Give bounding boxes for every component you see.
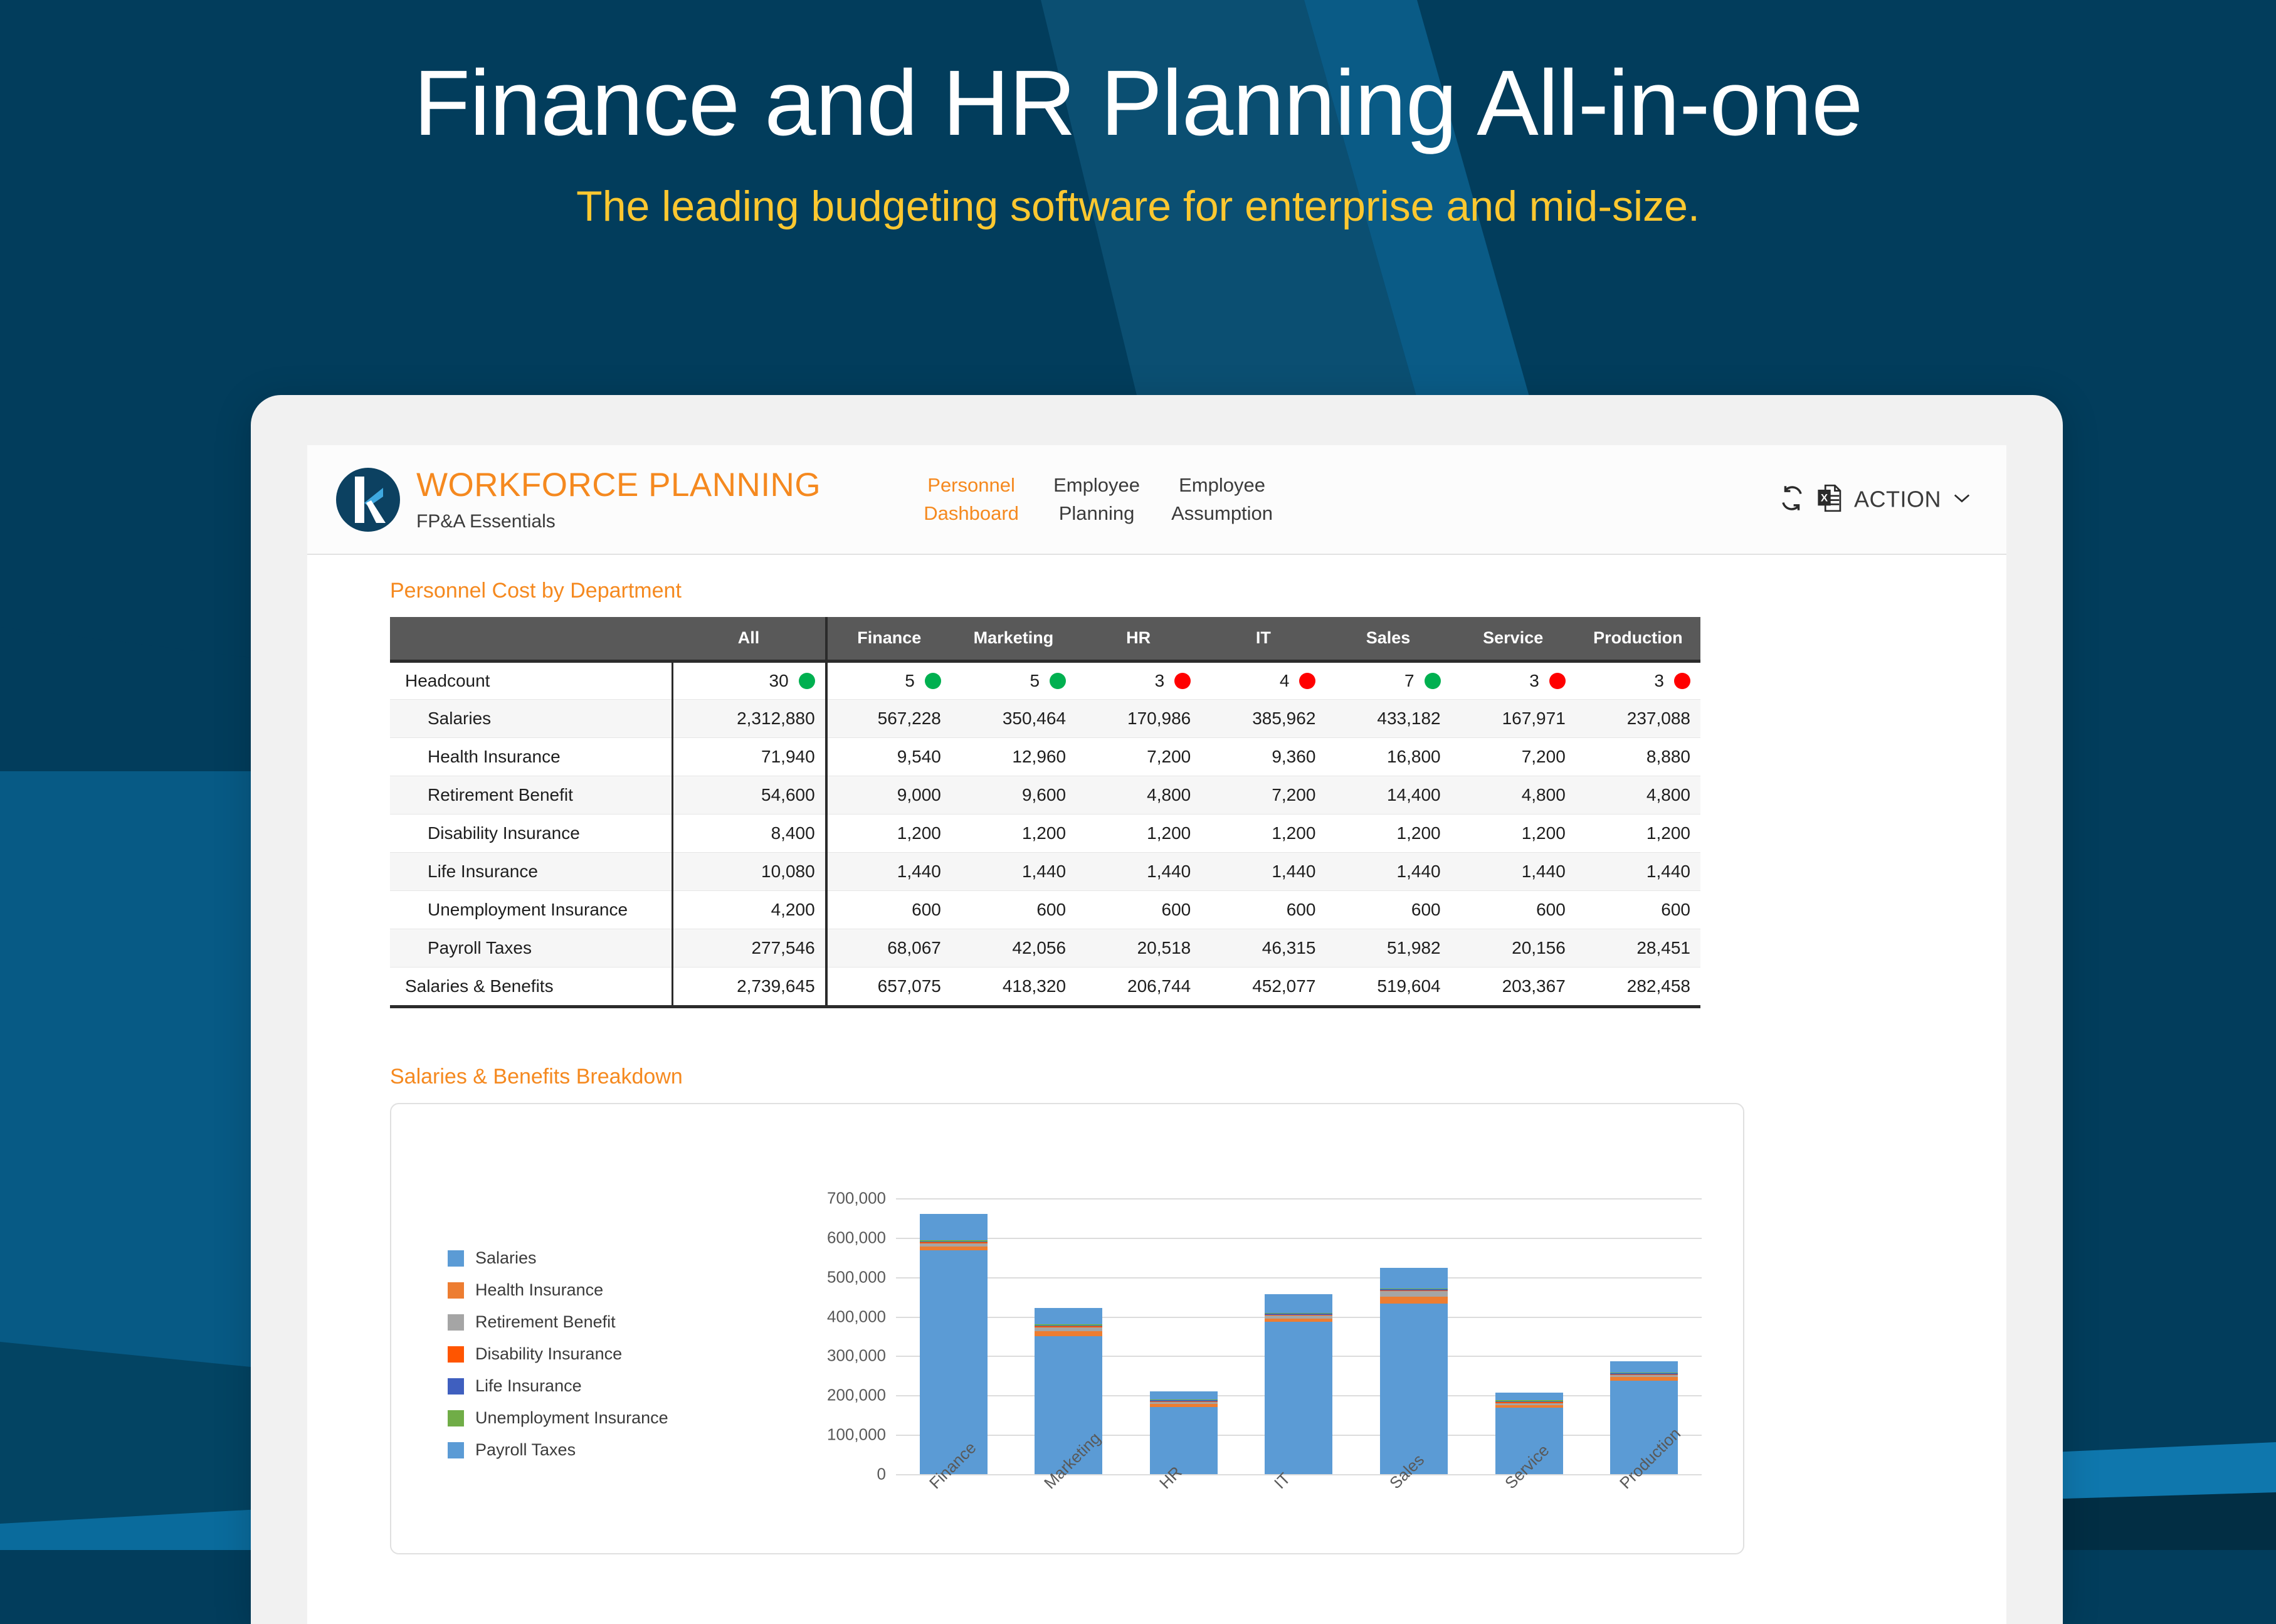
headcount-cell: 3	[1451, 661, 1576, 699]
hero-section: Finance and HR Planning All-in-one The l…	[0, 50, 2276, 231]
y-axis-tick-label: 700,000	[827, 1189, 886, 1208]
page-title: Finance and HR Planning All-in-one	[0, 50, 2276, 157]
value-cell: 54,600	[672, 776, 826, 814]
value-cell: 10,080	[672, 852, 826, 890]
legend-label: Salaries	[475, 1248, 537, 1268]
value-cell: 1,440	[1576, 852, 1700, 890]
value-cell: 7,200	[1201, 776, 1325, 814]
table-row: Health Insurance71,9409,54012,9607,2009,…	[390, 737, 1700, 776]
value-cell: 4,800	[1076, 776, 1201, 814]
table-row: Unemployment Insurance4,2006006006006006…	[390, 890, 1700, 929]
table-row: Life Insurance10,0801,4401,4401,4401,440…	[390, 852, 1700, 890]
page-subtitle: The leading budgeting software for enter…	[0, 182, 2276, 231]
value-cell: 1,200	[1076, 814, 1201, 852]
salaries-benefits-section-title: Salaries & Benefits Breakdown	[390, 1065, 1981, 1089]
legend-color-swatch	[448, 1410, 464, 1426]
chart-bar-segment	[1495, 1393, 1563, 1401]
value-cell: 567,228	[826, 699, 951, 737]
legend-label: Life Insurance	[475, 1376, 582, 1396]
chart-bar-segment	[1265, 1294, 1332, 1312]
value-cell: 1,440	[1325, 852, 1450, 890]
personnel-cost-table-wrap: All Finance Marketing HR IT Sales Servic…	[390, 617, 1700, 1008]
status-indicator-dot	[1674, 673, 1690, 689]
table-body: Headcount305534733Salaries2,312,880567,2…	[390, 661, 1700, 1005]
chart-bar-segment	[1150, 1391, 1218, 1400]
row-label: Headcount	[390, 661, 672, 699]
legend-color-swatch	[448, 1378, 464, 1395]
value-cell: 277,546	[672, 929, 826, 967]
value-cell: 1,200	[826, 814, 951, 852]
value-cell: 237,088	[1576, 699, 1700, 737]
personnel-cost-section-title: Personnel Cost by Department	[390, 579, 1981, 603]
y-axis-tick-label: 0	[877, 1465, 886, 1484]
value-cell: 7,200	[1076, 737, 1201, 776]
chart-legend: SalariesHealth InsuranceRetirement Benef…	[448, 1248, 668, 1460]
chart-plot-area: 0100,000200,000300,000400,000500,000600,…	[780, 1198, 1702, 1512]
brand: WORKFORCE PLANNING FP&A Essentials	[336, 468, 821, 532]
legend-color-swatch	[448, 1314, 464, 1331]
tablet-frame: WORKFORCE PLANNING FP&A Essentials Perso…	[251, 395, 2063, 1624]
app-screen: WORKFORCE PLANNING FP&A Essentials Perso…	[307, 445, 2006, 1624]
header-actions: X ACTION	[1779, 484, 1971, 515]
value-cell: 1,200	[1201, 814, 1325, 852]
value-cell: 7,200	[1451, 737, 1576, 776]
value-cell: 1,200	[951, 814, 1076, 852]
value-cell: 600	[951, 890, 1076, 929]
value-cell: 1,440	[826, 852, 951, 890]
y-axis-tick-label: 600,000	[827, 1228, 886, 1247]
value-cell: 600	[1325, 890, 1450, 929]
col-header-hr: HR	[1076, 617, 1201, 661]
row-label: Retirement Benefit	[390, 776, 672, 814]
status-indicator-dot	[1299, 673, 1315, 689]
status-indicator-dot	[799, 673, 815, 689]
col-header-it: IT	[1201, 617, 1325, 661]
value-cell: 1,440	[1076, 852, 1201, 890]
headcount-cell: 3	[1576, 661, 1700, 699]
headcount-cell: 3	[1076, 661, 1201, 699]
legend-item[interactable]: Health Insurance	[448, 1280, 668, 1300]
value-cell: 20,156	[1451, 929, 1576, 967]
svg-text:X: X	[1821, 492, 1828, 504]
row-label: Salaries & Benefits	[390, 967, 672, 1005]
nav-item-line2: Planning	[1034, 500, 1159, 527]
legend-label: Retirement Benefit	[475, 1312, 616, 1332]
value-cell: 657,075	[826, 967, 951, 1005]
legend-color-swatch	[448, 1346, 464, 1363]
chart-bar-segment	[920, 1214, 988, 1241]
nav-item-line2: Assumption	[1159, 500, 1285, 527]
col-header-sales: Sales	[1325, 617, 1450, 661]
value-cell: 1,200	[1325, 814, 1450, 852]
chart-bar-segment	[1380, 1268, 1448, 1289]
y-axis-tick-label: 400,000	[827, 1307, 886, 1326]
value-cell: 600	[1451, 890, 1576, 929]
value-cell: 71,940	[672, 737, 826, 776]
y-axis-tick-label: 100,000	[827, 1425, 886, 1445]
personnel-cost-table: All Finance Marketing HR IT Sales Servic…	[390, 617, 1700, 1005]
refresh-icon[interactable]	[1779, 485, 1805, 514]
action-menu-label[interactable]: ACTION	[1854, 487, 1941, 513]
legend-color-swatch	[448, 1442, 464, 1458]
value-cell: 4,800	[1451, 776, 1576, 814]
table-row: Salaries2,312,880567,228350,464170,98638…	[390, 699, 1700, 737]
value-cell: 68,067	[826, 929, 951, 967]
value-cell: 1,440	[1201, 852, 1325, 890]
headcount-cell: 4	[1201, 661, 1325, 699]
row-label: Salaries	[390, 699, 672, 737]
value-cell: 1,440	[1451, 852, 1576, 890]
value-cell: 42,056	[951, 929, 1076, 967]
status-indicator-dot	[1174, 673, 1191, 689]
legend-item[interactable]: Life Insurance	[448, 1376, 668, 1396]
y-axis-tick-label: 200,000	[827, 1386, 886, 1405]
value-cell: 600	[1576, 890, 1700, 929]
headcount-cell: 5	[826, 661, 951, 699]
value-cell: 4,800	[1576, 776, 1700, 814]
y-axis-tick-label: 500,000	[827, 1267, 886, 1287]
nav-item-line1: Employee	[1034, 472, 1159, 499]
nav-item-personnel-dashboard[interactable]: Personnel Dashboard	[909, 472, 1034, 527]
brand-subtitle: FP&A Essentials	[416, 512, 821, 531]
headcount-cell: 5	[951, 661, 1076, 699]
legend-label: Health Insurance	[475, 1280, 603, 1300]
value-cell: 519,604	[1325, 967, 1450, 1005]
value-cell: 9,360	[1201, 737, 1325, 776]
nav-item-employee-assumption[interactable]: Employee Assumption	[1159, 472, 1285, 527]
salaries-benefits-chart-card: SalariesHealth InsuranceRetirement Benef…	[390, 1103, 1744, 1554]
nav-item-line1: Personnel	[909, 472, 1034, 499]
chart-y-axis: 0100,000200,000300,000400,000500,000600,…	[780, 1198, 896, 1474]
col-header-production: Production	[1576, 617, 1700, 661]
value-cell: 418,320	[951, 967, 1076, 1005]
value-cell: 28,451	[1576, 929, 1700, 967]
value-cell: 203,367	[1451, 967, 1576, 1005]
value-cell: 600	[1201, 890, 1325, 929]
value-cell: 385,962	[1201, 699, 1325, 737]
legend-color-swatch	[448, 1250, 464, 1267]
legend-label: Unemployment Insurance	[475, 1408, 668, 1428]
value-cell: 167,971	[1451, 699, 1576, 737]
value-cell: 206,744	[1076, 967, 1201, 1005]
value-cell: 1,200	[1451, 814, 1576, 852]
value-cell: 8,880	[1576, 737, 1700, 776]
value-cell: 9,540	[826, 737, 951, 776]
value-cell: 170,986	[1076, 699, 1201, 737]
col-header-service: Service	[1451, 617, 1576, 661]
row-label: Health Insurance	[390, 737, 672, 776]
legend-item[interactable]: Salaries	[448, 1248, 668, 1268]
value-cell: 600	[826, 890, 951, 929]
y-axis-tick-label: 300,000	[827, 1346, 886, 1366]
col-header-all: All	[672, 617, 826, 661]
chart-bar-segment	[1380, 1297, 1448, 1304]
legend-label: Disability Insurance	[475, 1344, 622, 1364]
legend-color-swatch	[448, 1282, 464, 1299]
main-nav: Personnel Dashboard Employee Planning Em…	[909, 472, 1285, 527]
value-cell: 46,315	[1201, 929, 1325, 967]
value-cell: 9,600	[951, 776, 1076, 814]
nav-item-employee-planning[interactable]: Employee Planning	[1034, 472, 1159, 527]
value-cell: 2,739,645	[672, 967, 826, 1005]
table-header-row: All Finance Marketing HR IT Sales Servic…	[390, 617, 1700, 661]
app-logo-icon	[336, 468, 400, 532]
row-label: Unemployment Insurance	[390, 890, 672, 929]
legend-item[interactable]: Disability Insurance	[448, 1344, 668, 1364]
table-row: Retirement Benefit54,6009,0009,6004,8007…	[390, 776, 1700, 814]
value-cell: 14,400	[1325, 776, 1450, 814]
chart-bar-segment	[1380, 1291, 1448, 1297]
col-header-finance: Finance	[826, 617, 951, 661]
value-cell: 16,800	[1325, 737, 1450, 776]
app-content: Personnel Cost by Department All Finance…	[307, 555, 2006, 1554]
chart-x-axis: FinanceMarketingHRITSalesServiceProducti…	[896, 1479, 1702, 1499]
col-header-marketing: Marketing	[951, 617, 1076, 661]
app-header: WORKFORCE PLANNING FP&A Essentials Perso…	[307, 445, 2006, 555]
chevron-down-icon[interactable]	[1952, 492, 1971, 507]
value-cell: 350,464	[951, 699, 1076, 737]
status-indicator-dot	[1549, 673, 1566, 689]
value-cell: 1,440	[951, 852, 1076, 890]
legend-item[interactable]: Unemployment Insurance	[448, 1408, 668, 1428]
brand-title: WORKFORCE PLANNING	[416, 468, 821, 502]
chart-bar-segment	[1035, 1331, 1102, 1336]
chart-bars	[896, 1198, 1702, 1474]
table-row-headcount: Headcount305534733	[390, 661, 1700, 699]
nav-item-line2: Dashboard	[909, 500, 1034, 527]
headcount-cell: 7	[1325, 661, 1450, 699]
value-cell: 600	[1076, 890, 1201, 929]
row-label: Life Insurance	[390, 852, 672, 890]
table-row: Payroll Taxes277,54668,06742,05620,51846…	[390, 929, 1700, 967]
legend-label: Payroll Taxes	[475, 1440, 576, 1460]
status-indicator-dot	[1425, 673, 1441, 689]
headcount-cell: 30	[672, 661, 826, 699]
row-label: Disability Insurance	[390, 814, 672, 852]
value-cell: 8,400	[672, 814, 826, 852]
legend-item[interactable]: Payroll Taxes	[448, 1440, 668, 1460]
nav-item-line1: Employee	[1159, 472, 1285, 499]
value-cell: 12,960	[951, 737, 1076, 776]
status-indicator-dot	[1050, 673, 1066, 689]
col-header-blank	[390, 617, 672, 661]
status-indicator-dot	[925, 673, 941, 689]
chart-bar-segment	[1610, 1361, 1678, 1373]
value-cell: 51,982	[1325, 929, 1450, 967]
legend-item[interactable]: Retirement Benefit	[448, 1312, 668, 1332]
table-row: Disability Insurance8,4001,2001,2001,200…	[390, 814, 1700, 852]
value-cell: 1,200	[1576, 814, 1700, 852]
value-cell: 9,000	[826, 776, 951, 814]
value-cell: 282,458	[1576, 967, 1700, 1005]
chart-bar-segment	[1035, 1308, 1102, 1324]
value-cell: 433,182	[1325, 699, 1450, 737]
table-row: Salaries & Benefits2,739,645657,075418,3…	[390, 967, 1700, 1005]
value-cell: 452,077	[1201, 967, 1325, 1005]
value-cell: 4,200	[672, 890, 826, 929]
value-cell: 20,518	[1076, 929, 1201, 967]
row-label: Payroll Taxes	[390, 929, 672, 967]
value-cell: 2,312,880	[672, 699, 826, 737]
excel-export-icon[interactable]: X	[1816, 484, 1843, 515]
